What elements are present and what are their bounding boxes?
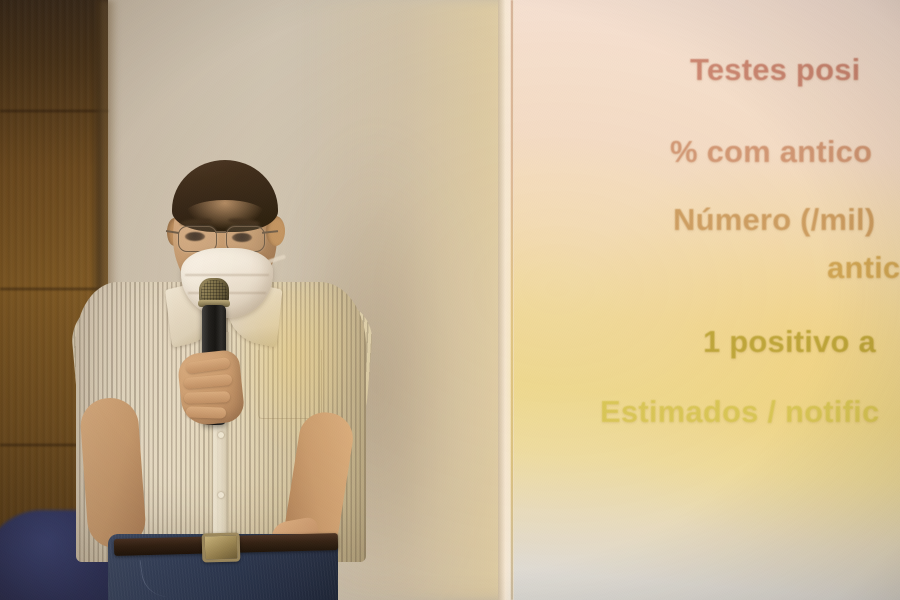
eyeglass-temple-right — [262, 230, 278, 233]
slide-line-4: antico — [827, 250, 900, 286]
shirt-chest-pocket — [258, 350, 322, 419]
slide-line-6: Estimados / notific — [600, 394, 879, 430]
slide-line-1: Testes posi — [690, 52, 860, 88]
finger — [184, 391, 230, 404]
shirt-button — [218, 492, 224, 498]
eyeglass-temple-left — [166, 230, 179, 234]
belt-buckle — [202, 533, 241, 563]
slide-text-block: Testes posi % com antico Número (/mil) a… — [505, 0, 900, 600]
slide-line-2: % com antico — [670, 134, 872, 170]
speaker-figure: 3M Aura — [0, 0, 520, 600]
left-forearm — [79, 396, 147, 550]
slide-line-3: Número (/mil) — [673, 202, 875, 238]
mask-fold-upper — [185, 274, 269, 276]
slide-line-5: 1 positivo a — [703, 324, 876, 360]
presentation-photo: Testes posi % com antico Número (/mil) a… — [0, 0, 900, 600]
eyeglass-bridge — [215, 231, 226, 233]
shirt-button — [218, 432, 224, 438]
finger — [186, 406, 226, 418]
